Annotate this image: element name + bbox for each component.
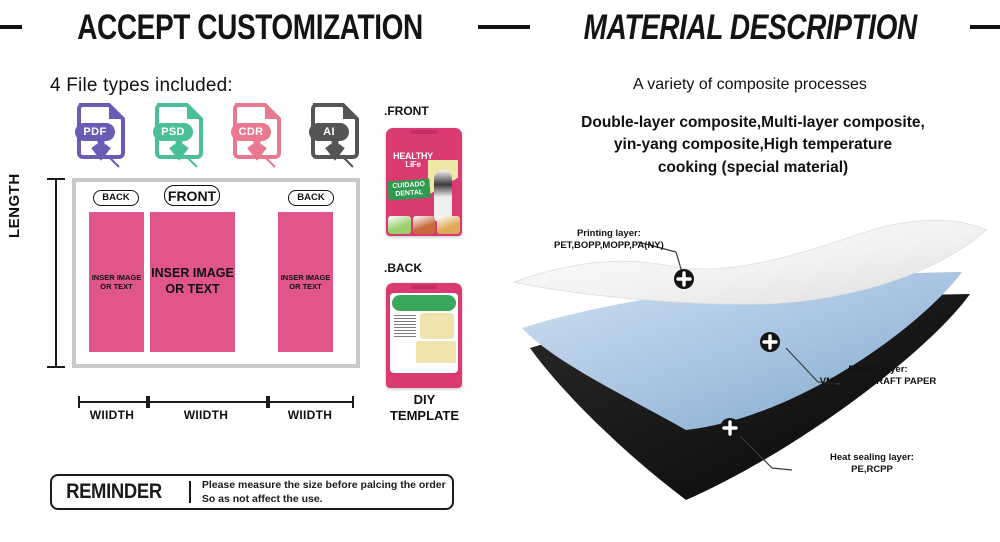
- pouch-brand: HEALTHY LiFe: [390, 152, 436, 169]
- back-text-lines: [394, 315, 416, 339]
- ai-file-icon: AI: [307, 101, 363, 171]
- barrier-layer-materials: VMPET,AL,KRAFT PAPER: [820, 376, 936, 388]
- back-cream-block-2: [416, 341, 456, 363]
- description-line2: yin-yang composite,High temperature: [548, 134, 958, 156]
- diy-template-caption: DIY TEMPLATE: [377, 392, 472, 423]
- psd-file-icon: PSD: [151, 101, 207, 171]
- right-header-title: MATERIAL DESCRIPTION: [583, 10, 916, 45]
- pouch-subtitle: CUIDADO DENTAL: [387, 179, 430, 201]
- pouch-notch: [411, 285, 437, 289]
- panel-text-line2: OR TEXT: [289, 282, 322, 291]
- dog-body: [434, 170, 452, 222]
- header-rule-right: [970, 25, 1000, 29]
- template-panel-front: INSER IMAGE OR TEXT: [150, 212, 235, 352]
- printing-layer-label: Printing layer: PET,BOPP,MOPP,PA(NY): [554, 228, 664, 252]
- description-line3: cooking (special material): [548, 157, 958, 179]
- panel-tag-back-left: BACK: [93, 190, 139, 206]
- template-panel-back-right: INSER IMAGE OR TEXT: [278, 212, 333, 352]
- diy-line1: DIY: [377, 392, 472, 408]
- die-line-template-box: BACK INSER IMAGE OR TEXT FRONT INSER IMA…: [72, 178, 360, 368]
- reminder-line2: So as not affect the use.: [202, 492, 446, 506]
- panel-tag-front: FRONT: [164, 185, 220, 206]
- back-green-band: [392, 295, 456, 311]
- plus-marker-icon: [674, 269, 694, 289]
- panel-text-line2: OR TEXT: [165, 282, 219, 298]
- panel-text-line1: INSER IMAGE: [281, 273, 331, 282]
- plus-marker-icon: [760, 332, 780, 352]
- reminder-body: Please measure the size before palcing t…: [191, 478, 446, 506]
- left-header-title: ACCEPT CUSTOMIZATION: [77, 10, 423, 45]
- pouch-back-caption: .BACK: [384, 261, 422, 275]
- pdf-badge-label: PDF: [75, 123, 115, 141]
- back-cream-block-1: [420, 313, 454, 339]
- width-label-1: WIIDTH: [78, 408, 146, 422]
- right-panel-header: MATERIAL DESCRIPTION: [500, 4, 1000, 50]
- reminder-box: REMINDER Please measure the size before …: [50, 474, 454, 510]
- left-panel-header: ACCEPT CUSTOMIZATION: [0, 4, 500, 50]
- material-description: Double-layer composite,Multi-layer compo…: [548, 112, 958, 179]
- description-line1: Double-layer composite,Multi-layer compo…: [548, 112, 958, 134]
- header-rule-left: [500, 25, 530, 29]
- pouch-notch: [411, 130, 437, 134]
- width-label-3: WIIDTH: [266, 408, 354, 422]
- length-line: [55, 178, 57, 368]
- length-cap-bottom: [47, 366, 65, 368]
- panel-text-line1: INSER IMAGE: [92, 273, 142, 282]
- width-label-2: WIIDTH: [146, 408, 266, 422]
- pdf-file-icon: PDF: [73, 101, 129, 171]
- header-rule-right: [478, 25, 500, 29]
- ai-badge-label: AI: [309, 123, 349, 141]
- header-rule-left: [0, 25, 22, 29]
- heat-sealing-layer-materials: PE,RCPP: [830, 464, 914, 476]
- material-subtitle: A variety of composite processes: [500, 76, 1000, 94]
- plus-marker-icon: [720, 418, 740, 438]
- back-barcode-area: [393, 345, 411, 367]
- width-tick-2: [266, 396, 270, 408]
- cdr-file-icon: CDR: [229, 101, 285, 171]
- product-chips: [388, 216, 460, 234]
- infographic-page: ACCEPT CUSTOMIZATION MATERIAL DESCRIPTIO…: [0, 0, 1000, 542]
- width-tick-start: [78, 396, 80, 408]
- diy-line2: TEMPLATE: [377, 408, 472, 424]
- panel-text-line2: OR TEXT: [100, 282, 133, 291]
- heat-sealing-layer-title: Heat sealing layer:: [830, 452, 914, 464]
- file-types-label: 4 File types included:: [50, 75, 233, 97]
- width-tick-1: [146, 396, 150, 408]
- template-panel-back-left: INSER IMAGE OR TEXT: [89, 212, 144, 352]
- heat-sealing-layer-label: Heat sealing layer: PE,RCPP: [830, 452, 914, 476]
- length-dimension-axis: [47, 178, 63, 368]
- length-label: LENGTH: [6, 173, 23, 238]
- printing-layer-materials: PET,BOPP,MOPP,PA(NY): [554, 240, 664, 252]
- pouch-front-caption: .FRONT: [384, 104, 429, 118]
- reminder-title: REMINDER: [52, 480, 172, 504]
- printing-layer-title: Printing layer:: [554, 228, 664, 240]
- pouch-front-image: HEALTHY LiFe CUIDADO DENTAL: [386, 128, 462, 236]
- reminder-line1: Please measure the size before palcing t…: [202, 478, 446, 492]
- width-line: [78, 401, 354, 403]
- width-dimension-axis: [78, 396, 354, 408]
- leader-line-heat-2: [772, 468, 792, 470]
- panel-text-line1: INSER IMAGE: [151, 266, 234, 282]
- width-tick-end: [352, 396, 354, 408]
- pouch-brand-line2: LiFe: [390, 161, 436, 169]
- cdr-badge-label: CDR: [231, 123, 271, 141]
- barrier-layer-label: Barrier layer: VMPET,AL,KRAFT PAPER: [820, 364, 936, 388]
- psd-badge-label: PSD: [153, 123, 193, 141]
- pouch-back-image: [386, 283, 462, 388]
- barrier-layer-title: Barrier layer:: [820, 364, 936, 376]
- file-type-icon-row: PDF PSD CDR: [73, 101, 373, 173]
- panel-tag-back-right: BACK: [288, 190, 334, 206]
